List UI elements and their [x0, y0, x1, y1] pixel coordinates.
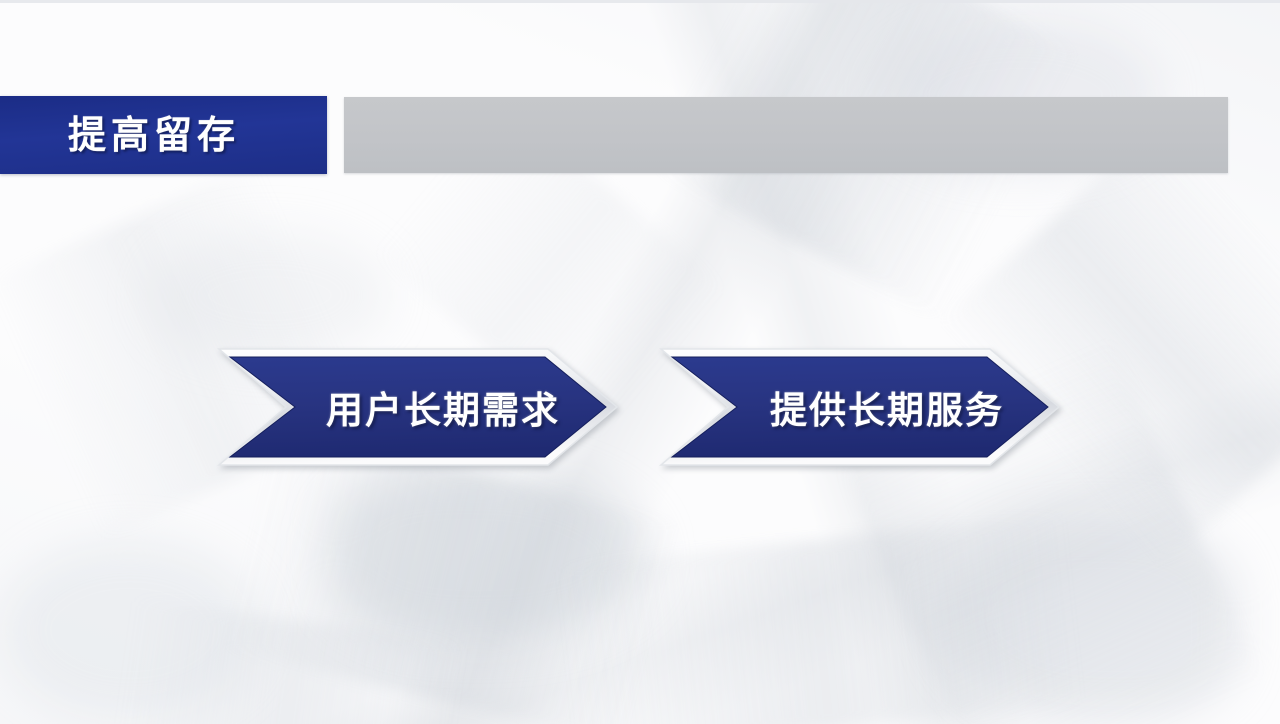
flow-step-1: 用户长期需求 — [218, 348, 618, 466]
page-title: 提高留存 — [68, 116, 240, 154]
chevron-shape-icon — [660, 348, 1060, 466]
top-edge-line — [0, 0, 1280, 3]
section-title-box: 提高留存 — [0, 96, 327, 174]
chevron-shape-icon — [218, 348, 618, 466]
header-gray-bar — [344, 97, 1228, 173]
flow-step-2: 提供长期服务 — [660, 348, 1060, 466]
header-band: 提高留存 — [0, 96, 1280, 174]
slide-canvas: 提高留存 用户长期需求 — [0, 0, 1280, 724]
